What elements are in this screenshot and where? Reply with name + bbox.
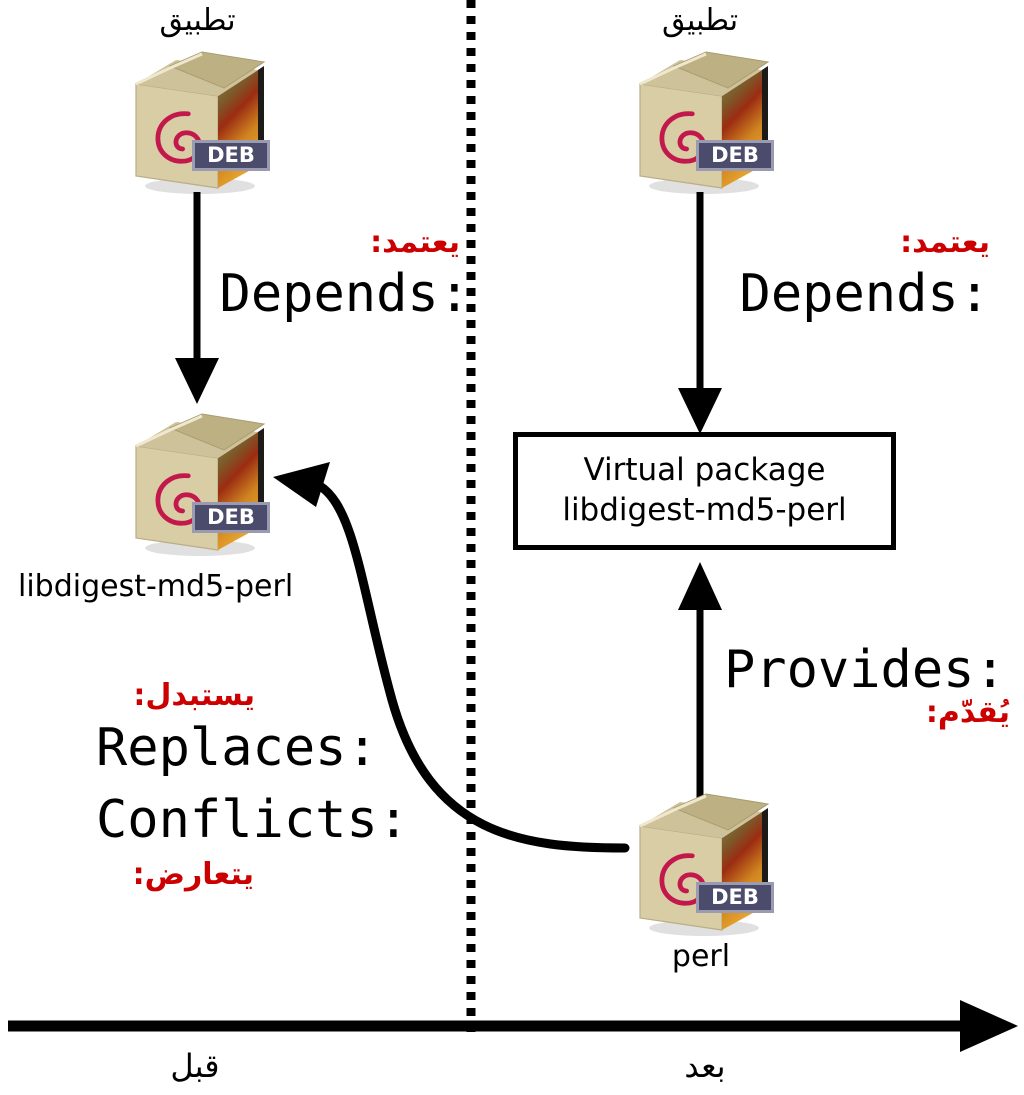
debian-package-icon-perl: DEB [622,790,782,938]
after-depends-label: Depends: [735,268,990,320]
svg-text:DEB: DEB [207,143,255,167]
provides-label-arabic: يُقدّم: [830,698,1010,728]
virtual-package-box: Virtual package libdigest-md5-perl [513,432,896,550]
after-depends-label-arabic: يعتمد: [760,228,990,258]
timeline-label-before: قبل [80,1050,310,1082]
virtual-package-line1: Virtual package [518,451,891,491]
svg-text:DEB: DEB [711,885,759,909]
svg-text:DEB: DEB [711,143,759,167]
debian-package-icon-before-app: DEB [118,48,278,196]
debian-package-icon-libdigest-md5-perl: DEB [118,410,278,558]
svg-text:DEB: DEB [207,505,255,529]
conflicts-label-arabic: يتعارض: [102,860,254,890]
conflicts-label: Conflicts: [96,794,409,846]
after-app-label: تطبيق [525,6,875,36]
diagram-canvas: تطبيق [0,0,1024,1095]
deb-badge: DEB [192,140,270,171]
arrow-down-icon-right [678,192,722,434]
before-package-label: libdigest-md5-perl [18,572,293,602]
arrow-up-icon-provides [678,562,722,810]
after-package-label: perl [560,942,842,972]
timeline-label-after: بعد [590,1050,820,1082]
provides-label: Provides: [724,644,1006,696]
before-depends-label: Depends: [215,268,470,320]
before-app-label: تطبيق [0,6,395,36]
before-depends-label-arabic: يعتمد: [230,228,460,258]
deb-badge: DEB [696,140,774,171]
deb-badge: DEB [696,882,774,913]
timeline-arrow-icon [8,1000,1018,1052]
virtual-package-line2: libdigest-md5-perl [518,491,891,531]
replaces-label: Replaces: [96,722,378,774]
debian-package-icon-after-app: DEB [622,48,782,196]
replaces-label-arabic: يستبدل: [110,681,255,711]
arrow-down-icon-left [175,192,219,404]
deb-badge: DEB [192,502,270,533]
